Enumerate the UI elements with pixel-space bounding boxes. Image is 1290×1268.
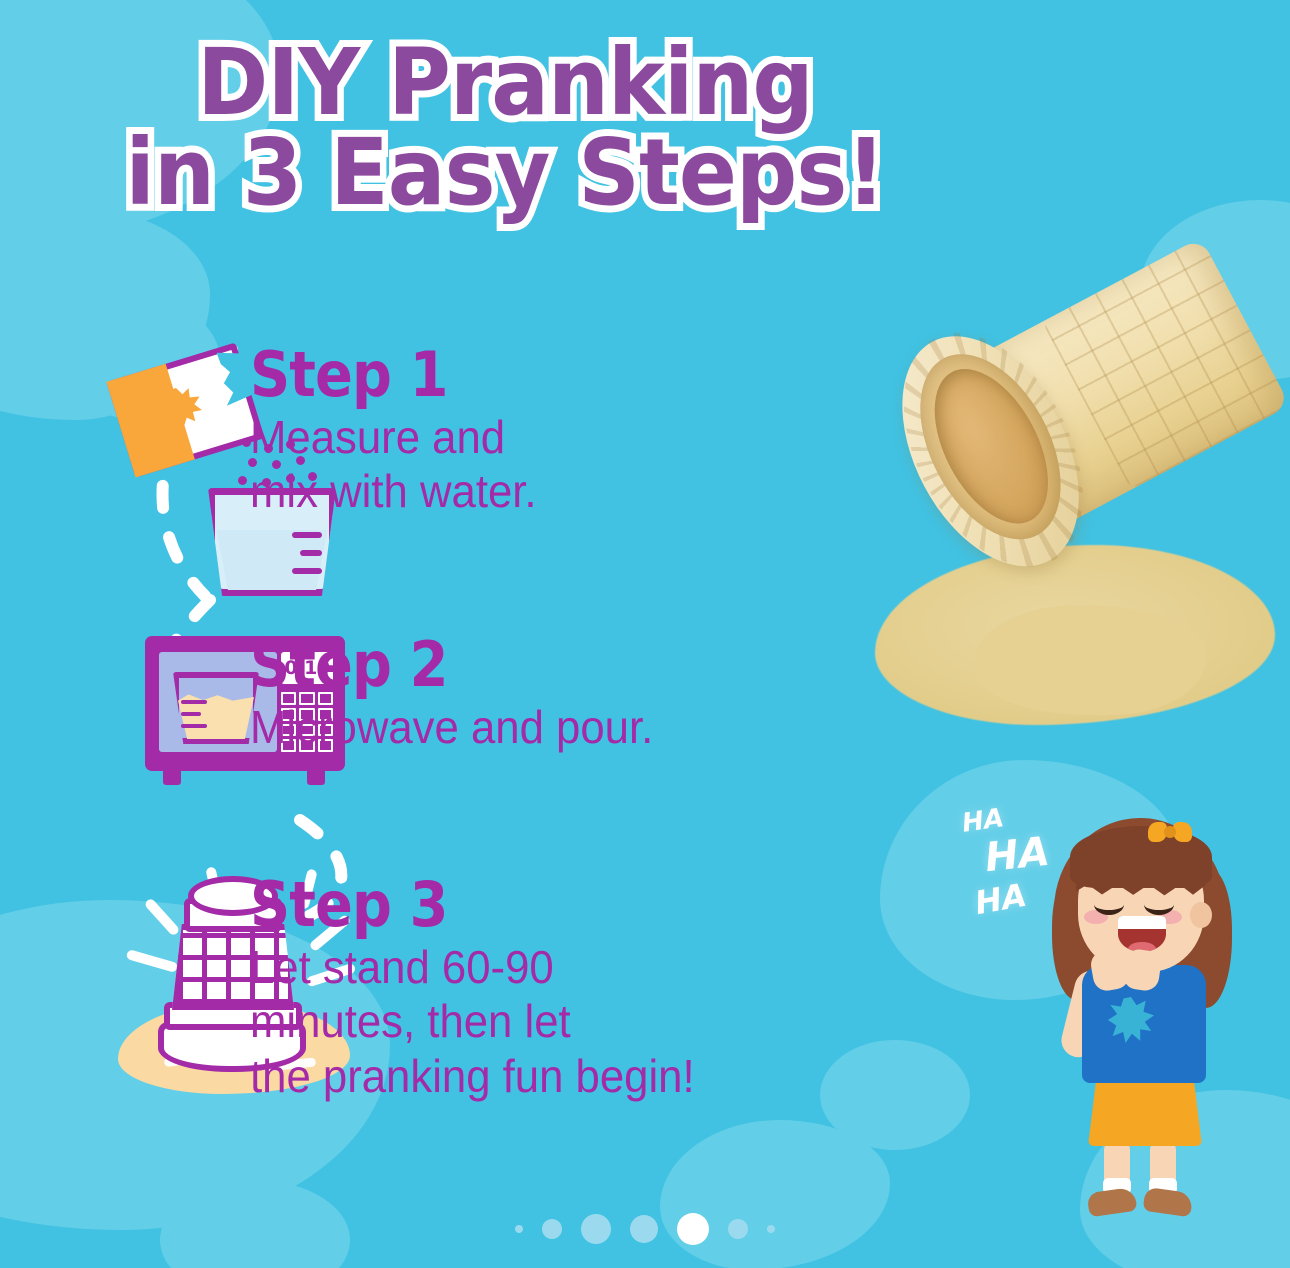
title-line-2: in 3 Easy Steps! <box>35 128 974 218</box>
step-1-desc-line-1: Measure and <box>250 410 537 464</box>
girl-mouth <box>1118 916 1166 952</box>
laugh-text-3: HA <box>972 876 1029 922</box>
title-line-1: DIY Pranking <box>35 38 974 128</box>
step-row-3: Step 3 Let stand 60-90 minutes, then let… <box>0 870 960 1150</box>
slide-canvas: DIY Pranking in 3 Easy Steps! <box>0 0 1290 1268</box>
step-1-icon-slot <box>0 340 250 341</box>
step-1-desc-line-2: mix with water. <box>250 464 537 518</box>
microwave-foot-left <box>163 771 181 785</box>
carousel-dot-7[interactable] <box>767 1225 775 1233</box>
step-1-text: Step 1 Measure and mix with water. <box>250 340 552 519</box>
step-row-1: Step 1 Measure and mix with water. <box>0 340 960 630</box>
girl-tshirt-splat-graphic <box>1108 997 1154 1043</box>
carousel-dot-1[interactable] <box>515 1225 523 1233</box>
step-3-desc-line-3: the pranking fun begin! <box>250 1049 695 1103</box>
laughing-girl-illustration <box>1040 810 1240 1210</box>
waffle-texture <box>1042 237 1290 489</box>
carousel-dots[interactable] <box>0 1214 1290 1244</box>
step-3-icon-slot <box>0 870 250 871</box>
girl-ear <box>1190 902 1212 928</box>
page-title: DIY Pranking in 3 Easy Steps! <box>0 38 1010 218</box>
step-row-2: 0:10 Step 2 Microwave and pour. <box>0 630 960 870</box>
carousel-dot-2[interactable] <box>542 1219 562 1239</box>
carousel-dot-6[interactable] <box>728 1219 748 1239</box>
girl-hair-bow-icon <box>1148 820 1192 844</box>
step-2-icon-slot: 0:10 <box>0 630 250 631</box>
step-3-desc-line-1: Let stand 60-90 <box>250 940 695 994</box>
girl-eye-right <box>1144 894 1174 915</box>
laugh-text-2: HA <box>983 829 1052 881</box>
step-1-description: Measure and mix with water. <box>250 410 537 519</box>
carousel-dot-4[interactable] <box>630 1215 658 1243</box>
microwave-measuring-cup <box>173 672 259 744</box>
step-3-description: Let stand 60-90 minutes, then let the pr… <box>250 940 695 1103</box>
girl-skirt <box>1088 1072 1202 1146</box>
microwave-foot-right <box>307 771 325 785</box>
step-2-text: Step 2 Microwave and pour. <box>250 630 674 754</box>
step-3-text: Step 3 Let stand 60-90 minutes, then let… <box>250 870 718 1103</box>
girl-shoe-left <box>1087 1187 1138 1217</box>
step-3-heading: Step 3 <box>250 874 671 936</box>
step-1-heading: Step 1 <box>250 344 521 406</box>
girl-teeth <box>1118 916 1166 929</box>
girl-eye-left <box>1094 894 1124 915</box>
carousel-dot-3[interactable] <box>581 1214 611 1244</box>
girl-shoe-right <box>1143 1187 1194 1217</box>
step-2-description: Microwave and pour. <box>250 700 653 754</box>
step-2-heading: Step 2 <box>250 634 632 696</box>
step-3-desc-line-2: minutes, then let <box>250 994 695 1048</box>
carousel-dot-5-active[interactable] <box>677 1213 709 1245</box>
steps-list: Step 1 Measure and mix with water. <box>0 340 960 1150</box>
measuring-cup-water <box>214 530 330 590</box>
step-2-desc-line-1: Microwave and pour. <box>250 700 653 754</box>
